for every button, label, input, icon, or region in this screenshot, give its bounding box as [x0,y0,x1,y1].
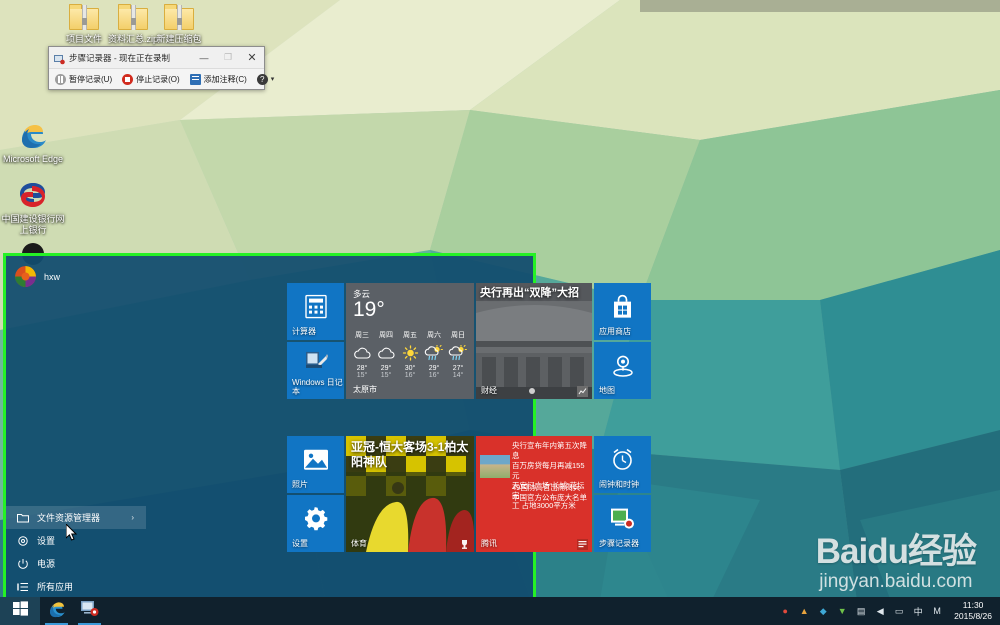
sidebar-item-all-apps[interactable]: 所有应用 [6,575,146,598]
edge-icon [0,118,69,152]
news-line: 中国官方公布庞大名单 [512,493,589,503]
sidebar-item-label: 电源 [37,557,55,570]
security-icon[interactable]: ▲ [798,605,810,617]
clock-time: 11:30 [954,600,992,611]
calculator-icon [287,294,344,323]
desktop-icon-edge[interactable]: Microsoft Edge [0,118,69,165]
forecast-day-name: 周日 [446,330,470,340]
window-titlebar[interactable]: 步骤记录器 - 现在正在录制 — ❐ ✕ [49,47,264,68]
forecast-low: 16° [422,372,446,379]
tile-label: Windows 日记本 [292,378,344,396]
pause-record-button[interactable]: 暂停记录(U) [52,73,115,86]
volume-icon[interactable]: ◀ [874,605,886,617]
forecast-low: 14° [446,372,470,379]
pause-record-label: 暂停记录(U) [69,74,112,85]
journal-icon [287,349,344,376]
forecast-day: 周五 30° 16° [398,330,422,379]
window-toolbar: 暂停记录(U) 停止记录(O) 添加注释(C) ? ▾ [49,68,264,89]
taskbar-clock[interactable]: 11:30 2015/8/26 [950,600,992,622]
weather-temperature: 19° [353,298,385,322]
forecast-day: 周三 28° 15° [350,330,374,379]
comment-icon [190,74,201,85]
steps-recorder-icon [594,506,651,535]
tile-label: 体育 [351,538,367,549]
start-menu-left-column: hxw 文件资源管理器 › 设置 电源 [6,256,146,602]
tile-label: 计算器 [292,326,316,337]
news-app-badge [577,384,588,395]
desktop-icon-label: 新建压缩包 [155,34,202,45]
sidebar-item-label: 文件资源管理器 [37,511,100,524]
news-line: 央行宣布年内第五次降息 [512,441,589,461]
zip-folder-icon [143,0,215,32]
forecast-high: 30° [398,365,422,372]
power-icon [16,558,30,570]
windows-logo-icon [13,601,28,621]
forecast-day-name: 周四 [374,330,398,340]
start-button[interactable] [0,597,40,625]
antivirus-shield-icon[interactable]: ◆ [817,605,829,617]
forecast-day: 周日 [446,330,470,379]
start-menu-tiles: 计算器 Windows 日记本 多云 19° 周三 [146,256,533,602]
tile-steps-recorder[interactable]: 步骤记录器 [594,495,651,552]
desktop-icon-bank[interactable]: 中国建设银行网上银行 [0,178,69,236]
bank-logo-icon [0,178,69,212]
maximize-button[interactable]: ❐ [216,48,240,68]
cloudy-icon [374,343,398,363]
tile-weather[interactable]: 多云 19° 周三 28° 15° 周四 29° 15° [346,283,474,399]
forecast-high: 29° [374,365,398,372]
tile-label: 步骤记录器 [599,538,639,549]
photos-icon [287,448,344,475]
tile-label: 腾讯 [481,538,497,549]
news-line: 百万房贷每月再减155元 [512,461,589,481]
mouse-cursor [66,524,78,542]
sidebar-item-power[interactable]: 电源 [6,552,146,575]
minimize-button[interactable]: — [192,48,216,68]
weather-forecast: 周三 28° 15° 周四 29° 15° 周五 [350,330,470,379]
ime-chinese-icon[interactable]: 中 [912,605,924,617]
add-comment-button[interactable]: 添加注释(C) [187,73,250,86]
forecast-day: 周四 29° 15° [374,330,398,379]
news-headline-block-2: 49国防高官出席阅兵 中国官方公布庞大名单 [512,483,589,503]
tile-store[interactable]: 应用商店 [594,283,651,340]
sun-shower-icon [446,343,470,363]
tile-settings[interactable]: 设置 [287,495,344,552]
tile-news-tencent[interactable]: 央行宣布年内第五次降息 百万房贷每月再减155元 天安门广场“长城”花坛完 工 … [476,436,592,552]
stop-icon [122,74,133,85]
steps-recorder-icon [81,600,99,622]
news-thumbnail [480,455,510,478]
internet-explorer-icon [47,599,67,624]
action-center-icon[interactable]: ▭ [893,605,905,617]
stop-record-label: 停止记录(O) [136,74,180,85]
news-line: 49国防高官出席阅兵 [512,483,589,493]
forecast-high: 28° [350,365,374,372]
steps-recorder-app-icon [54,52,65,63]
taskbar-internet-explorer[interactable] [40,597,73,625]
tile-label: 应用商店 [599,326,631,337]
tile-windows-journal[interactable]: Windows 日记本 [287,342,344,399]
cloudy-icon [350,343,374,363]
weather-city: 太原市 [353,384,377,395]
tile-label: 照片 [292,479,308,490]
forecast-day-name: 周三 [350,330,374,340]
tile-label: 设置 [292,538,308,549]
add-comment-label: 添加注释(C) [204,74,247,85]
list-icon [16,582,30,592]
gear-icon [287,505,344,536]
system-tray[interactable]: ● ▲ ◆ ▼ ▤ ◀ ▭ 中 M 11:30 2015/8/26 [779,600,1000,622]
forecast-low: 16° [398,372,422,379]
folder-icon [16,513,30,523]
forecast-low: 15° [350,372,374,379]
network-icon[interactable]: ▤ [855,605,867,617]
tile-maps[interactable]: 地图 [594,342,651,399]
sidebar-item-label: 设置 [37,534,55,547]
start-menu-left-list: 文件资源管理器 › 设置 电源 [6,506,146,598]
forecast-high: 29° [422,365,446,372]
taskbar[interactable]: ● ▲ ◆ ▼ ▤ ◀ ▭ 中 M 11:30 2015/8/26 [0,597,1000,625]
help-button[interactable]: ? ▾ [254,73,278,86]
desktop-icon-zip-3[interactable]: 新建压缩包 [143,0,215,45]
help-dropdown-caret[interactable]: ▾ [271,75,275,83]
tencent-app-badge [577,537,588,548]
alarm-clock-icon [594,447,651,477]
avatar [15,266,36,287]
forecast-day-name: 周六 [422,330,446,340]
sidebar-item-label: 所有应用 [37,580,73,593]
forecast-high: 27° [446,365,470,372]
close-button[interactable]: ✕ [240,48,264,68]
shield-red-icon[interactable]: ● [779,605,791,617]
tile-alarms-clock[interactable]: 闹钟和时钟 [594,436,651,493]
tile-news-sports[interactable]: 亚冠-恒大客场3-1柏太阳神队 体育 [346,436,474,552]
pause-icon [55,74,66,85]
clock-date: 2015/8/26 [954,611,992,622]
gear-icon [16,535,30,547]
store-bag-icon [594,294,651,323]
news-headline: 亚冠-恒大客场3-1柏太阳神队 [346,440,474,470]
desktop-icon-label: 中国建设银行网上银行 [0,214,69,236]
ime-mode-icon[interactable]: M [931,605,943,617]
sports-trophy-badge [459,537,470,548]
user-account-row[interactable]: hxw [6,256,146,287]
news-headline: 央行再出“双降”大招 [476,287,592,300]
user-name: hxw [44,272,60,282]
tile-label: 财经 [481,385,497,396]
forecast-day-name: 周五 [398,330,422,340]
forecast-low: 15° [374,372,398,379]
steps-recorder-window[interactable]: 步骤记录器 - 现在正在录制 — ❐ ✕ 暂停记录(U) 停止记录(O) 添加注… [48,46,265,90]
start-menu[interactable]: hxw 文件资源管理器 › 设置 电源 [3,253,536,605]
stop-record-button[interactable]: 停止记录(O) [119,73,183,86]
help-icon: ? [257,74,268,85]
tile-label: 闹钟和时钟 [599,479,639,490]
sunny-icon [398,343,422,363]
forecast-day: 周六 [422,330,446,379]
map-pin-icon [594,353,651,382]
download-icon[interactable]: ▼ [836,605,848,617]
window-title: 步骤记录器 - 现在正在录制 [69,52,192,64]
desktop-icon-label: Microsoft Edge [2,154,64,165]
sun-shower-icon [422,343,446,363]
chevron-right-icon: › [131,513,134,522]
tile-photos[interactable]: 照片 [287,436,344,493]
taskbar-steps-recorder[interactable] [73,597,106,625]
tile-calculator[interactable]: 计算器 [287,283,344,340]
tile-label: 地图 [599,385,615,396]
tile-news-finance[interactable]: 央行再出“双降”大招 财经 [476,283,592,399]
